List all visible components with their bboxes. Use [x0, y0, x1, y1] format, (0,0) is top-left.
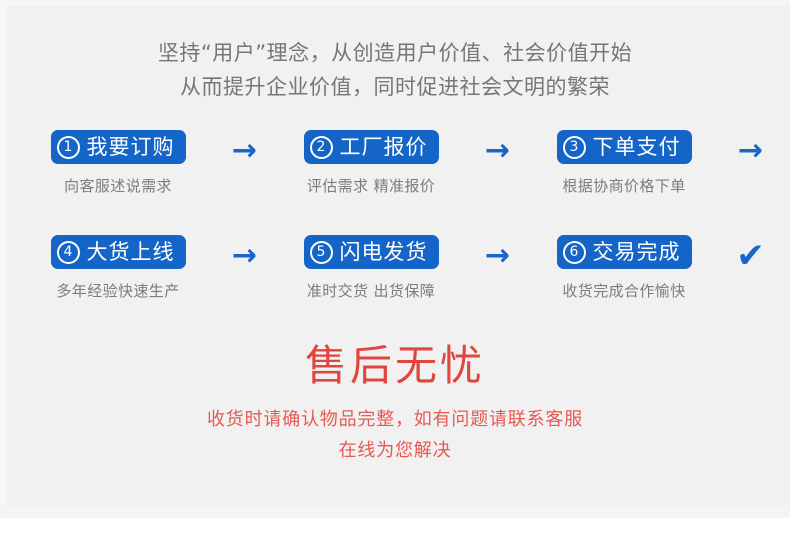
step-item-3[interactable]: 3 下单支付 根据协商价格下单	[522, 130, 727, 195]
step-label-4: 大货上线	[87, 242, 175, 263]
aftersales-title: 售后无忧	[0, 340, 790, 392]
arrow-right-icon-5: →	[474, 235, 522, 277]
arrow-right-icon-3: →	[727, 130, 775, 172]
step-label-3: 下单支付	[593, 137, 681, 158]
aftersales-block: 售后无忧 收货时请确认物品完整，如有问题请联系客服 在线为您解决	[0, 340, 790, 466]
step-caption-6: 收货完成合作愉快	[562, 282, 685, 300]
step-number-badge-3: 3	[563, 136, 586, 159]
step-label-2: 工厂报价	[340, 137, 428, 158]
arrow-right-icon-1: →	[221, 130, 269, 172]
step-caption-2: 评估需求 精准报价	[307, 177, 435, 195]
step-label-6: 交易完成	[593, 242, 681, 263]
step-pill-6[interactable]: 6 交易完成	[557, 235, 692, 269]
step-caption-5: 准时交货 出货保障	[307, 282, 435, 300]
step-label-1: 我要订购	[87, 137, 175, 158]
check-mark-icon: ✔	[727, 235, 775, 277]
step-number-badge-5: 5	[310, 241, 333, 264]
step-number-badge-6: 6	[563, 241, 586, 264]
headline-line-2: 从而提升企业价值，同时促进社会文明的繁荣	[0, 70, 790, 104]
step-caption-3: 根据协商价格下单	[562, 177, 685, 195]
step-number-badge-4: 4	[57, 241, 80, 264]
promo-banner: 坚持“用户”理念，从创造用户价值、社会价值开始 从而提升企业价值，同时促进社会文…	[0, 0, 790, 543]
step-label-5: 闪电发货	[340, 242, 428, 263]
process-steps-row-2: 4 大货上线 多年经验快速生产 → 5 闪电发货 准时交货 出货保障 →	[0, 235, 790, 300]
step-pill-3[interactable]: 3 下单支付	[557, 130, 692, 164]
arrow-right-icon-2: →	[474, 130, 522, 172]
headline-line-1: 坚持“用户”理念，从创造用户价值、社会价值开始	[0, 36, 790, 70]
step-item-5[interactable]: 5 闪电发货 准时交货 出货保障	[269, 235, 474, 300]
step-number-badge-1: 1	[57, 136, 80, 159]
content-area: 坚持“用户”理念，从创造用户价值、社会价值开始 从而提升企业价值，同时促进社会文…	[0, 0, 790, 518]
step-pill-1[interactable]: 1 我要订购	[51, 130, 186, 164]
step-item-4[interactable]: 4 大货上线 多年经验快速生产	[16, 235, 221, 300]
step-pill-5[interactable]: 5 闪电发货	[304, 235, 439, 269]
step-item-6[interactable]: 6 交易完成 收货完成合作愉快	[522, 235, 727, 300]
headline-block: 坚持“用户”理念，从创造用户价值、社会价值开始 从而提升企业价值，同时促进社会文…	[0, 36, 790, 104]
step-pill-2[interactable]: 2 工厂报价	[304, 130, 439, 164]
step-caption-1: 向客服述说需求	[64, 177, 172, 195]
process-steps-row-1: 1 我要订购 向客服述说需求 → 2 工厂报价 评估需求 精准报价 →	[0, 130, 790, 195]
aftersales-subtext-line-2: 在线为您解决	[0, 435, 790, 466]
step-item-1[interactable]: 1 我要订购 向客服述说需求	[16, 130, 221, 195]
step-number-badge-2: 2	[310, 136, 333, 159]
step-item-2[interactable]: 2 工厂报价 评估需求 精准报价	[269, 130, 474, 195]
arrow-right-icon-4: →	[221, 235, 269, 277]
aftersales-subtext-line-1: 收货时请确认物品完整，如有问题请联系客服	[0, 404, 790, 435]
step-pill-4[interactable]: 4 大货上线	[51, 235, 186, 269]
aftersales-subtext: 收货时请确认物品完整，如有问题请联系客服 在线为您解决	[0, 404, 790, 466]
step-caption-4: 多年经验快速生产	[56, 282, 179, 300]
